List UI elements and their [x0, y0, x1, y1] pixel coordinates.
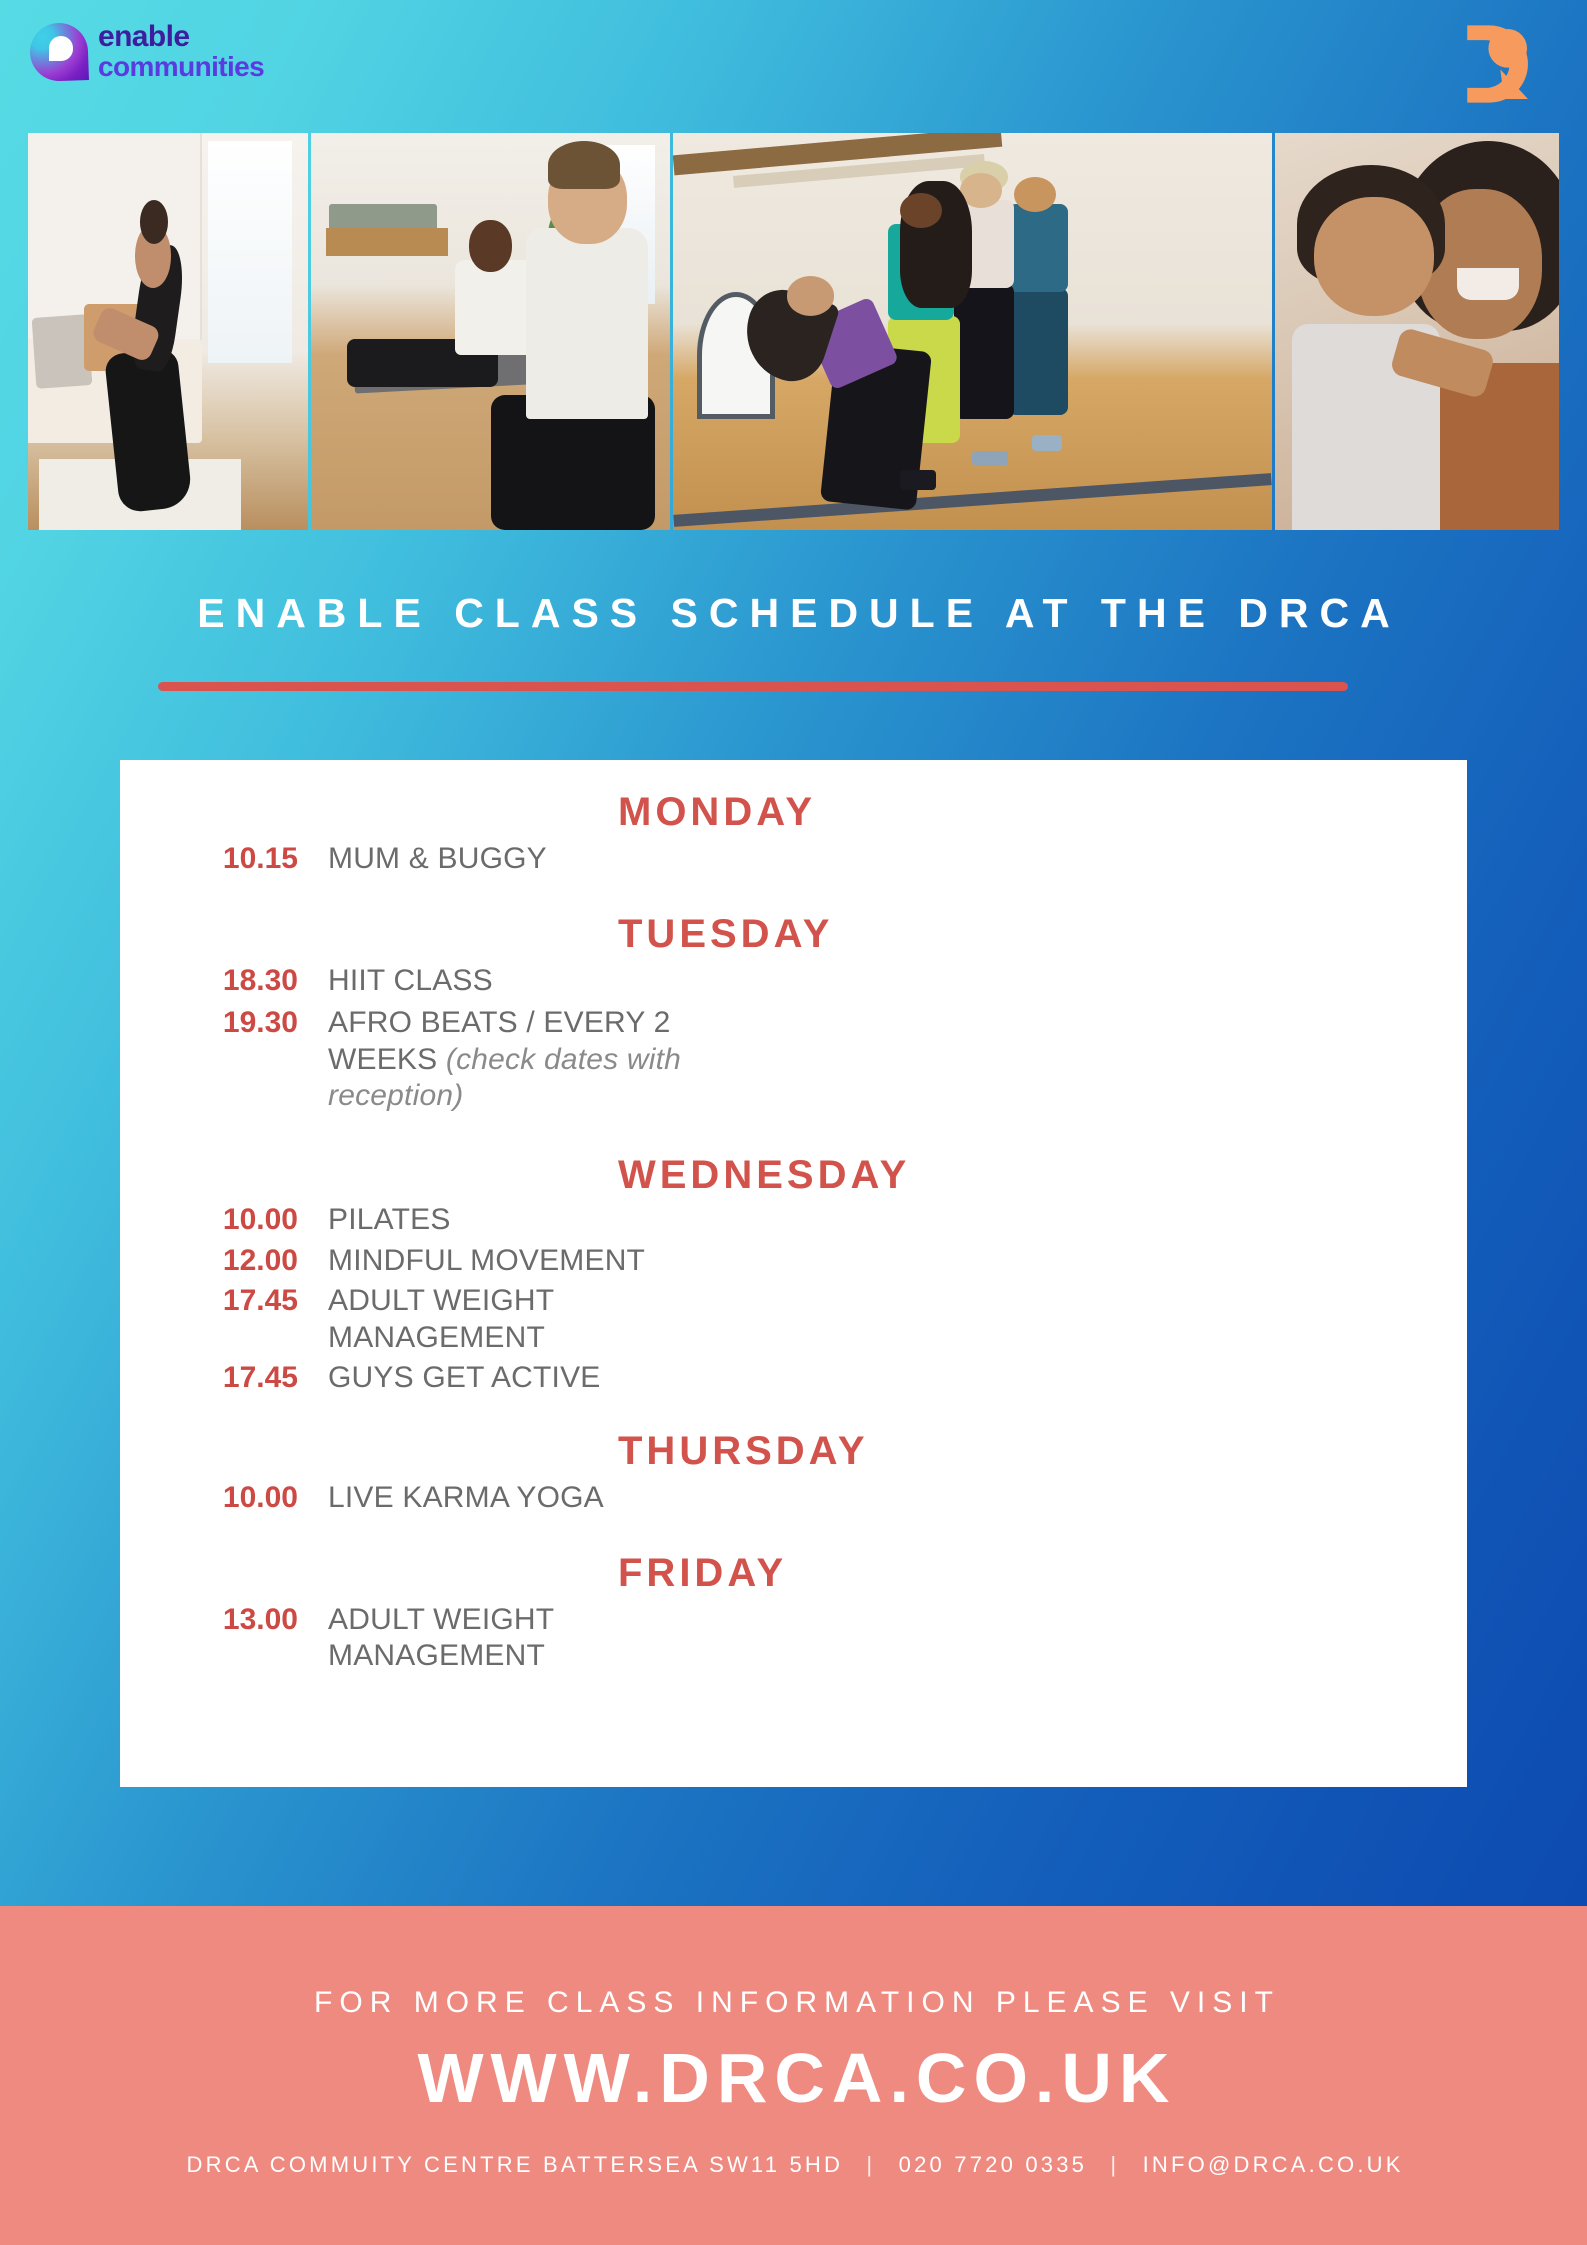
- poster-root: enable communities: [0, 0, 1587, 2245]
- footer-phone[interactable]: 020 7720 0335: [899, 2152, 1087, 2177]
- class-time: 18.30: [120, 963, 298, 1000]
- class-row: 10.00LIVE KARMA YOGA: [120, 1480, 1467, 1517]
- class-time: 17.45: [120, 1283, 298, 1320]
- title-accent-rule: [158, 682, 1348, 691]
- class-time: 13.00: [120, 1602, 298, 1639]
- enable-logo-wordmark: enable communities: [98, 22, 264, 81]
- class-name: PILATES: [298, 1202, 451, 1239]
- footer-email[interactable]: INFO@DRCA.CO.UK: [1143, 2152, 1404, 2177]
- day-block-monday: MONDAY10.15MUM & BUGGY: [120, 760, 1467, 878]
- class-row: 18.30HIIT CLASS: [120, 963, 1467, 1000]
- class-row: 10.00PILATES: [120, 1202, 1467, 1239]
- footer-address: DRCA COMMUITY CENTRE BATTERSEA SW11 5HD: [187, 2152, 844, 2177]
- photo-strip: [28, 133, 1559, 530]
- class-name: MINDFUL MOVEMENT: [298, 1243, 645, 1280]
- class-name: AFRO BEATS / EVERY 2 WEEKS (check dates …: [298, 1005, 758, 1115]
- day-block-friday: FRIDAY13.00ADULT WEIGHT MANAGEMENT: [120, 1517, 1467, 1675]
- day-heading-thursday: THURSDAY: [120, 1397, 1467, 1474]
- class-row: 19.30AFRO BEATS / EVERY 2 WEEKS (check d…: [120, 1005, 1467, 1115]
- enable-circle-mark-icon: [30, 23, 88, 81]
- day-heading-friday: FRIDAY: [120, 1517, 1467, 1596]
- class-name: HIIT CLASS: [298, 963, 493, 1000]
- page-title: ENABLE CLASS SCHEDULE AT THE DRCA: [0, 590, 1587, 637]
- class-note: (check dates with reception): [328, 1043, 681, 1113]
- class-time: 10.00: [120, 1480, 298, 1517]
- class-name: GUYS GET ACTIVE: [298, 1360, 601, 1397]
- class-name: ADULT WEIGHT MANAGEMENT: [298, 1602, 758, 1675]
- schedule-card: MONDAY10.15MUM & BUGGYTUESDAY18.30HIIT C…: [120, 760, 1467, 1787]
- drca-figure-mark-icon[interactable]: [1447, 18, 1539, 110]
- class-time: 12.00: [120, 1243, 298, 1280]
- class-row: 13.00ADULT WEIGHT MANAGEMENT: [120, 1602, 1467, 1675]
- class-row: 17.45ADULT WEIGHT MANAGEMENT: [120, 1283, 1467, 1356]
- class-time: 17.45: [120, 1360, 298, 1397]
- class-name: ADULT WEIGHT MANAGEMENT: [298, 1283, 758, 1356]
- day-block-thursday: THURSDAY10.00LIVE KARMA YOGA: [120, 1397, 1467, 1517]
- enable-logo-line-1: enable: [98, 22, 264, 52]
- day-block-wednesday: WEDNESDAY10.00PILATES12.00MINDFUL MOVEME…: [120, 1115, 1467, 1397]
- class-time: 10.00: [120, 1202, 298, 1239]
- day-heading-wednesday: WEDNESDAY: [120, 1115, 1467, 1198]
- enable-communities-logo[interactable]: enable communities: [30, 22, 264, 81]
- photo-dance-class: [673, 133, 1272, 530]
- day-block-tuesday: TUESDAY18.30HIIT CLASS19.30AFRO BEATS / …: [120, 878, 1467, 1115]
- class-name: MUM & BUGGY: [298, 841, 547, 878]
- day-heading-tuesday: TUESDAY: [120, 878, 1467, 957]
- class-time: 19.30: [120, 1005, 298, 1042]
- class-row: 17.45GUYS GET ACTIVE: [120, 1360, 1467, 1397]
- footer-contact-line: DRCA COMMUITY CENTRE BATTERSEA SW11 5HD …: [0, 2152, 1587, 2178]
- photo-mother-and-child: [1275, 133, 1559, 530]
- photo-yoga-upward-dog: [311, 133, 669, 530]
- class-row: 12.00MINDFUL MOVEMENT: [120, 1243, 1467, 1280]
- footer-band: FOR MORE CLASS INFORMATION PLEASE VISIT …: [0, 1906, 1587, 2245]
- footer-visit-text: FOR MORE CLASS INFORMATION PLEASE VISIT: [0, 1986, 1587, 2020]
- class-row: 10.15MUM & BUGGY: [120, 841, 1467, 878]
- schedule-list: MONDAY10.15MUM & BUGGYTUESDAY18.30HIIT C…: [120, 760, 1467, 1675]
- class-time: 10.15: [120, 841, 298, 878]
- day-heading-monday: MONDAY: [120, 760, 1467, 835]
- footer-website-link[interactable]: WWW.DRCA.CO.UK: [0, 2038, 1587, 2118]
- enable-logo-line-2: communities: [98, 53, 264, 81]
- class-name: LIVE KARMA YOGA: [298, 1480, 604, 1517]
- photo-woman-stretching: [28, 133, 308, 530]
- footer-separator-2: |: [1096, 2152, 1133, 2177]
- footer-separator-1: |: [852, 2152, 889, 2177]
